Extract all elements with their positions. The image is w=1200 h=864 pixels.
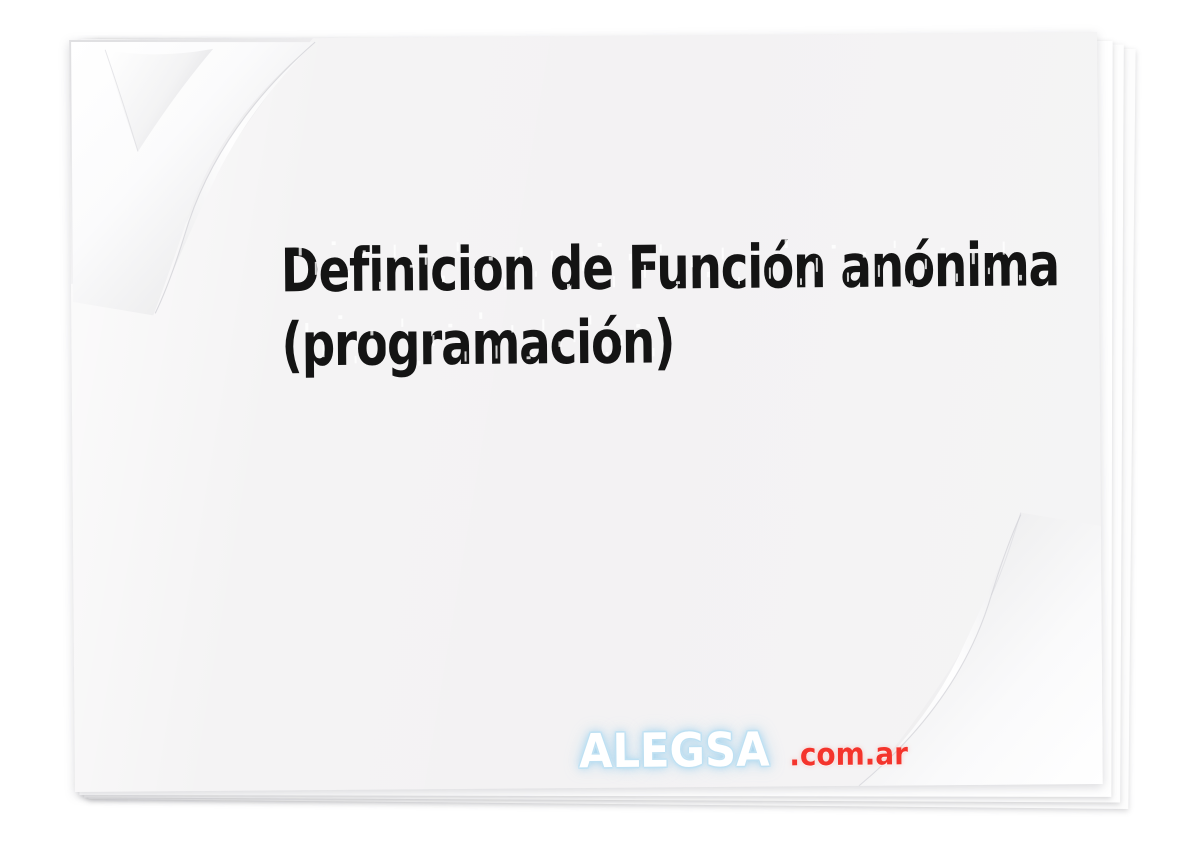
screenshot-root: Definicion de Función anónima (programac… [0,0,1200,864]
paper-sheen [69,32,1103,792]
page-title-line-2: (programación) [281,304,882,383]
watermark-domain: .com.ar [789,739,908,771]
paper-card: Definicion de Función anónima (programac… [69,32,1103,792]
page-title: Definicion de Función anónima (programac… [281,228,1052,382]
watermark-brand: ALEGSA [579,727,770,776]
page-title-line-1: Definicion de Función anónima [281,230,882,309]
watermark: ALEGSA .com.ar [570,725,914,775]
